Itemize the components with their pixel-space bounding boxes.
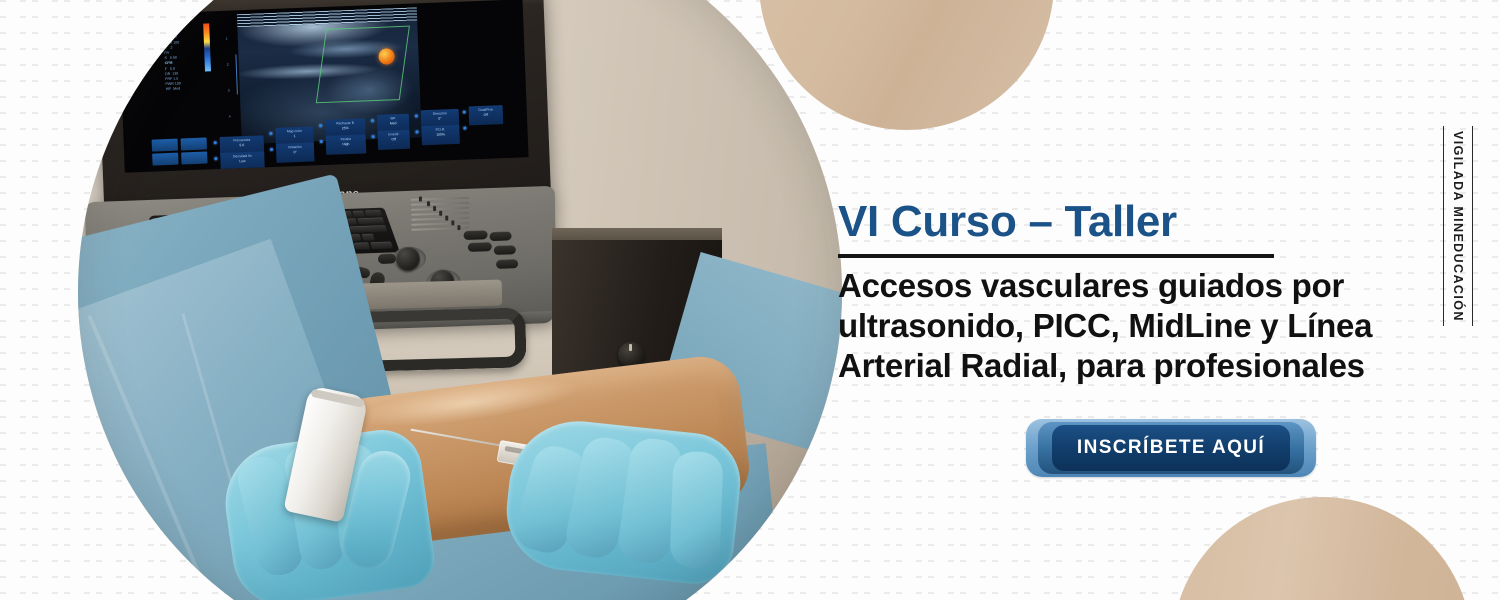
photo-vignette — [78, 0, 842, 600]
enroll-button[interactable]: INSCRÍBETE AQUÍ — [1026, 419, 1316, 477]
course-subtitle: Accesos vasculares guiados por ultrasoni… — [838, 266, 1438, 386]
accreditation-rule-right — [1472, 126, 1473, 326]
subtitle-line-3: Arterial Radial, para profesionales — [838, 347, 1365, 384]
accreditation-label: VIGILADA MINEDUCACIÓN — [1451, 131, 1465, 322]
subtitle-line-2: ultrasonido, PICC, MidLine y Línea — [838, 307, 1372, 344]
accreditation-mark: VIGILADA MINEDUCACIÓN — [1443, 126, 1473, 326]
course-title: VI Curso – Taller — [838, 196, 1438, 248]
hero-photo: G 5.5 DR 130 DG 200 PWR 100 E 2 FR S 0.9… — [78, 0, 842, 600]
enroll-button-label: INSCRÍBETE AQUÍ — [1077, 437, 1265, 459]
headline-block: VI Curso – Taller Accesos vasculares gui… — [838, 196, 1438, 386]
subtitle-line-1: Accesos vasculares guiados por — [838, 267, 1344, 304]
title-divider — [838, 254, 1274, 258]
promo-banner: G 5.5 DR 130 DG 200 PWR 100 E 2 FR S 0.9… — [0, 0, 1500, 600]
accreditation-rule-left — [1443, 126, 1444, 326]
cta-core[interactable]: INSCRÍBETE AQUÍ — [1052, 425, 1290, 471]
hero-photo-circle: G 5.5 DR 130 DG 200 PWR 100 E 2 FR S 0.9… — [78, 0, 842, 600]
